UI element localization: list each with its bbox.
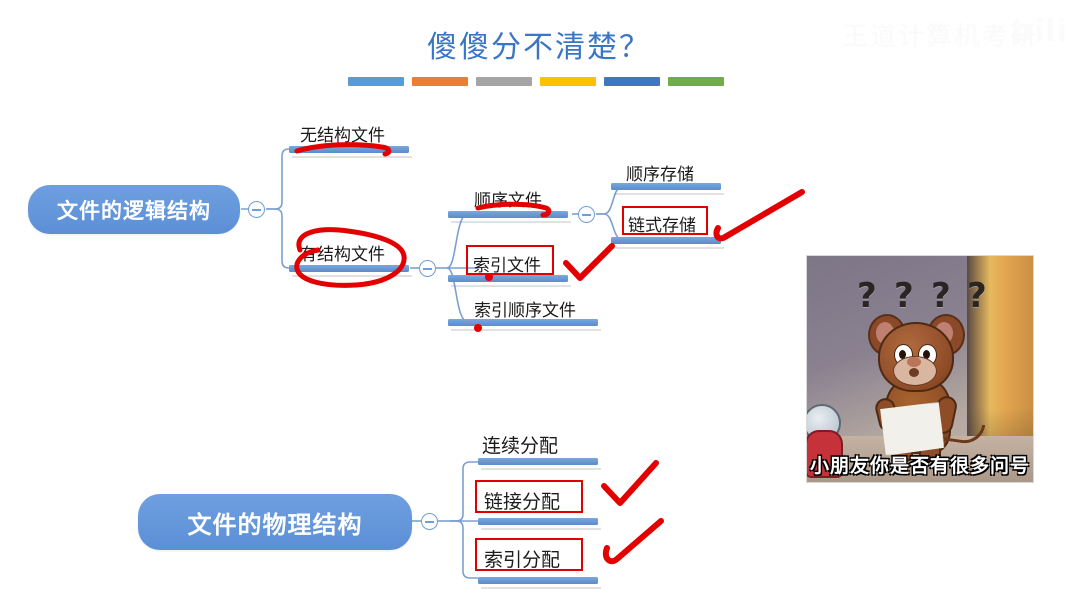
bar-shadow-index-allocation [481, 587, 601, 589]
title-decoration-bars [348, 77, 688, 86]
bar-shadow-contiguous [481, 468, 601, 470]
ink-check-linked-allocation [604, 463, 656, 503]
node-linked-storage-label: 链式存储 [628, 211, 696, 236]
jerry-mouth [909, 368, 919, 377]
bar-shadow-unstructured [292, 156, 412, 158]
question-mark-icon-2: ? [931, 276, 951, 316]
title-bar-3 [540, 77, 596, 86]
bar-index-file[interactable] [448, 275, 568, 282]
bar-shadow-linked-storage [614, 247, 724, 249]
jerry-nose [907, 357, 921, 367]
node-physical-root-label: 文件的物理结构 [188, 505, 363, 540]
meme-caption: 小朋友你是否有很多问号 [807, 451, 1033, 478]
node-index-allocation-label: 索引分配 [484, 545, 560, 572]
title-bar-1 [412, 77, 468, 86]
node-structured-file-label: 有结构文件 [300, 240, 385, 265]
node-sequential-file-label: 顺序文件 [474, 186, 542, 211]
node-unstructured-file-label: 无结构文件 [300, 121, 385, 146]
node-sequential-storage-label: 顺序存储 [626, 160, 694, 185]
collapse-toggle-logical[interactable] [248, 201, 265, 218]
bar-index-allocation[interactable] [478, 577, 598, 584]
collapse-toggle-structured[interactable] [419, 260, 436, 277]
bar-shadow-sequential-file [451, 221, 571, 223]
bar-shadow-index-file [451, 285, 571, 287]
collapse-toggle-physical[interactable] [421, 513, 438, 530]
question-mark-icon-0: ? [857, 276, 877, 316]
meme-image-jerry: ? ? ? ? 小朋友你是否有很多问号 [807, 256, 1033, 482]
bar-shadow-sequential-storage [614, 193, 724, 195]
node-contiguous-allocation-label: 连续分配 [482, 431, 558, 458]
page-title: 傻傻分不清楚？ [0, 22, 1078, 66]
node-index-file-label: 索引文件 [473, 251, 541, 276]
bar-shadow-linked-allocation [481, 528, 601, 530]
bar-index-sequential-file[interactable] [448, 319, 598, 326]
node-index-sequential-file-label: 索引顺序文件 [474, 296, 576, 321]
title-bar-4 [604, 77, 660, 86]
node-physical-root[interactable]: 文件的物理结构 [138, 494, 412, 550]
bar-linked-allocation[interactable] [478, 518, 598, 525]
ink-check-linked-storage [717, 192, 802, 238]
bar-contiguous-allocation[interactable] [478, 458, 598, 465]
node-linked-allocation-label: 链接分配 [484, 487, 560, 514]
node-logical-root-label: 文件的逻辑结构 [57, 195, 211, 225]
bar-structured-file[interactable] [289, 265, 409, 272]
question-mark-icon-3: ? [967, 276, 987, 316]
ink-check-index-file [566, 246, 612, 278]
jerry-paper [877, 402, 944, 456]
bar-shadow-index-sequential-file [451, 329, 601, 331]
title-bar-2 [476, 77, 532, 86]
title-bar-5 [668, 77, 724, 86]
bar-sequential-file[interactable] [448, 211, 568, 218]
bar-shadow-structured [292, 275, 412, 277]
ink-check-index-allocation [606, 521, 661, 561]
title-bar-0 [348, 77, 404, 86]
bar-unstructured-file[interactable] [289, 146, 409, 153]
node-logical-root[interactable]: 文件的逻辑结构 [28, 185, 240, 234]
slide-canvas: 傻傻分不清楚？ 王道计算机考研 bili [0, 0, 1078, 613]
collapse-toggle-sequential-file[interactable] [578, 206, 595, 223]
bar-sequential-storage[interactable] [611, 183, 721, 190]
question-mark-icon-1: ? [894, 276, 914, 316]
bar-linked-storage[interactable] [611, 237, 721, 244]
